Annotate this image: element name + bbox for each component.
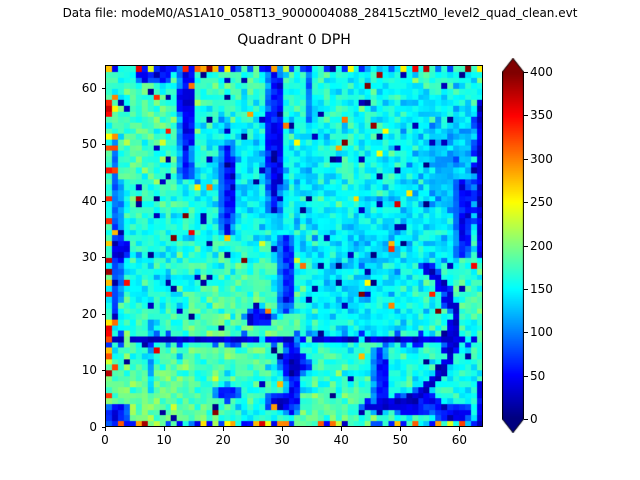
- x-tick-label: 0: [85, 433, 125, 447]
- y-tick-label: 10: [57, 363, 97, 377]
- heatmap-axes[interactable]: [105, 65, 483, 427]
- colorbar-tick-mark: [524, 115, 528, 116]
- y-tick-label: 40: [57, 194, 97, 208]
- x-tick-label: 10: [144, 433, 184, 447]
- x-tick-mark: [164, 427, 165, 431]
- colorbar-tick-mark: [524, 289, 528, 290]
- colorbar-tick-mark: [524, 202, 528, 203]
- x-tick-mark: [282, 427, 283, 431]
- figure-suptitle: Data file: modeM0/AS1A10_058T13_90000040…: [0, 6, 640, 20]
- colorbar-tick-label: 0: [530, 412, 538, 426]
- y-tick-label: 0: [57, 420, 97, 434]
- colorbar-tick-label: 300: [530, 152, 553, 166]
- y-tick-mark: [102, 314, 106, 315]
- x-tick-mark: [341, 427, 342, 431]
- y-tick-label: 60: [57, 81, 97, 95]
- x-tick-mark: [459, 427, 460, 431]
- y-tick-mark: [102, 144, 106, 145]
- y-tick-label: 20: [57, 307, 97, 321]
- page-title: Quadrant 0 DPH: [105, 32, 483, 49]
- colorbar-tick-label: 50: [530, 369, 545, 383]
- y-tick-mark: [102, 257, 106, 258]
- colorbar-tick-label: 250: [530, 195, 553, 209]
- x-tick-mark: [105, 427, 106, 431]
- matplotlib-figure: Data file: modeM0/AS1A10_058T13_90000040…: [0, 0, 640, 480]
- colorbar-tick-mark: [524, 419, 528, 420]
- y-tick-label: 30: [57, 250, 97, 264]
- colorbar-tick-label: 150: [530, 282, 553, 296]
- colorbar-tick-label: 350: [530, 108, 553, 122]
- y-tick-mark: [102, 427, 106, 428]
- x-tick-label: 20: [203, 433, 243, 447]
- x-tick-label: 40: [321, 433, 361, 447]
- colorbar-tick-mark: [524, 332, 528, 333]
- colorbar-tick-mark: [524, 159, 528, 160]
- x-tick-label: 60: [439, 433, 479, 447]
- y-tick-mark: [102, 201, 106, 202]
- x-tick-mark: [400, 427, 401, 431]
- colorbar[interactable]: [502, 58, 524, 433]
- x-tick-label: 30: [262, 433, 302, 447]
- y-tick-label: 50: [57, 137, 97, 151]
- y-tick-mark: [102, 370, 106, 371]
- colorbar-tick-mark: [524, 376, 528, 377]
- x-tick-mark: [223, 427, 224, 431]
- colorbar-tick-mark: [524, 246, 528, 247]
- y-tick-mark: [102, 88, 106, 89]
- heatmap-image: [106, 66, 482, 426]
- colorbar-tick-label: 100: [530, 325, 553, 339]
- colorbar-tick-mark: [524, 72, 528, 73]
- colorbar-tick-label: 200: [530, 239, 553, 253]
- x-tick-label: 50: [380, 433, 420, 447]
- colorbar-tick-label: 400: [530, 65, 553, 79]
- colorbar-gradient: [502, 58, 524, 433]
